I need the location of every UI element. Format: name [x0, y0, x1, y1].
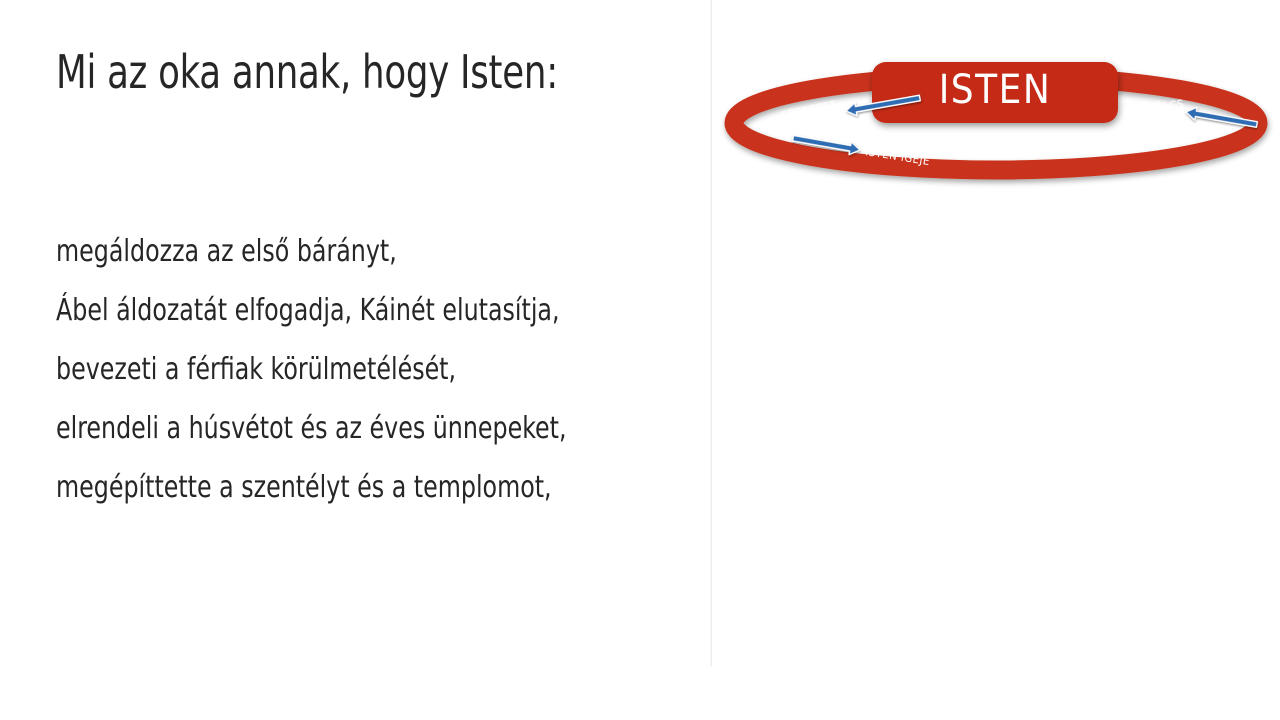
body-text-list: megáldozza az első bárányt, Ábel áldozat…: [56, 222, 696, 517]
list-item: megáldozza az első bárányt,: [56, 222, 619, 281]
text-column: Mi az oka annak, hogy Isten: megáldozza …: [56, 46, 676, 99]
cycle-diagram: ISTEN SZERETET ISTEN IGÉJE GYÜMÖLCS: [718, 28, 1274, 178]
isten-box-label: ISTEN: [939, 67, 1052, 113]
slide-canvas: Mi az oka annak, hogy Isten: megáldozza …: [0, 0, 1280, 720]
list-item: megépíttette a szentélyt és a templomot,: [56, 458, 619, 517]
list-item: Ábel áldozatát elfogadja, Káinét elutasí…: [56, 281, 619, 340]
list-item: elrendeli a húsvétot és az éves ünnepeke…: [56, 399, 619, 458]
gyumolcs-label-group: GYÜMÖLCS: [1122, 95, 1185, 119]
list-item: bevezeti a férfiak körülmetélését,: [56, 340, 619, 399]
page-title: Mi az oka annak, hogy Isten:: [56, 46, 589, 99]
column-divider: [710, 0, 712, 666]
ring-label-gyumolcs: GYÜMÖLCS: [1122, 95, 1185, 119]
